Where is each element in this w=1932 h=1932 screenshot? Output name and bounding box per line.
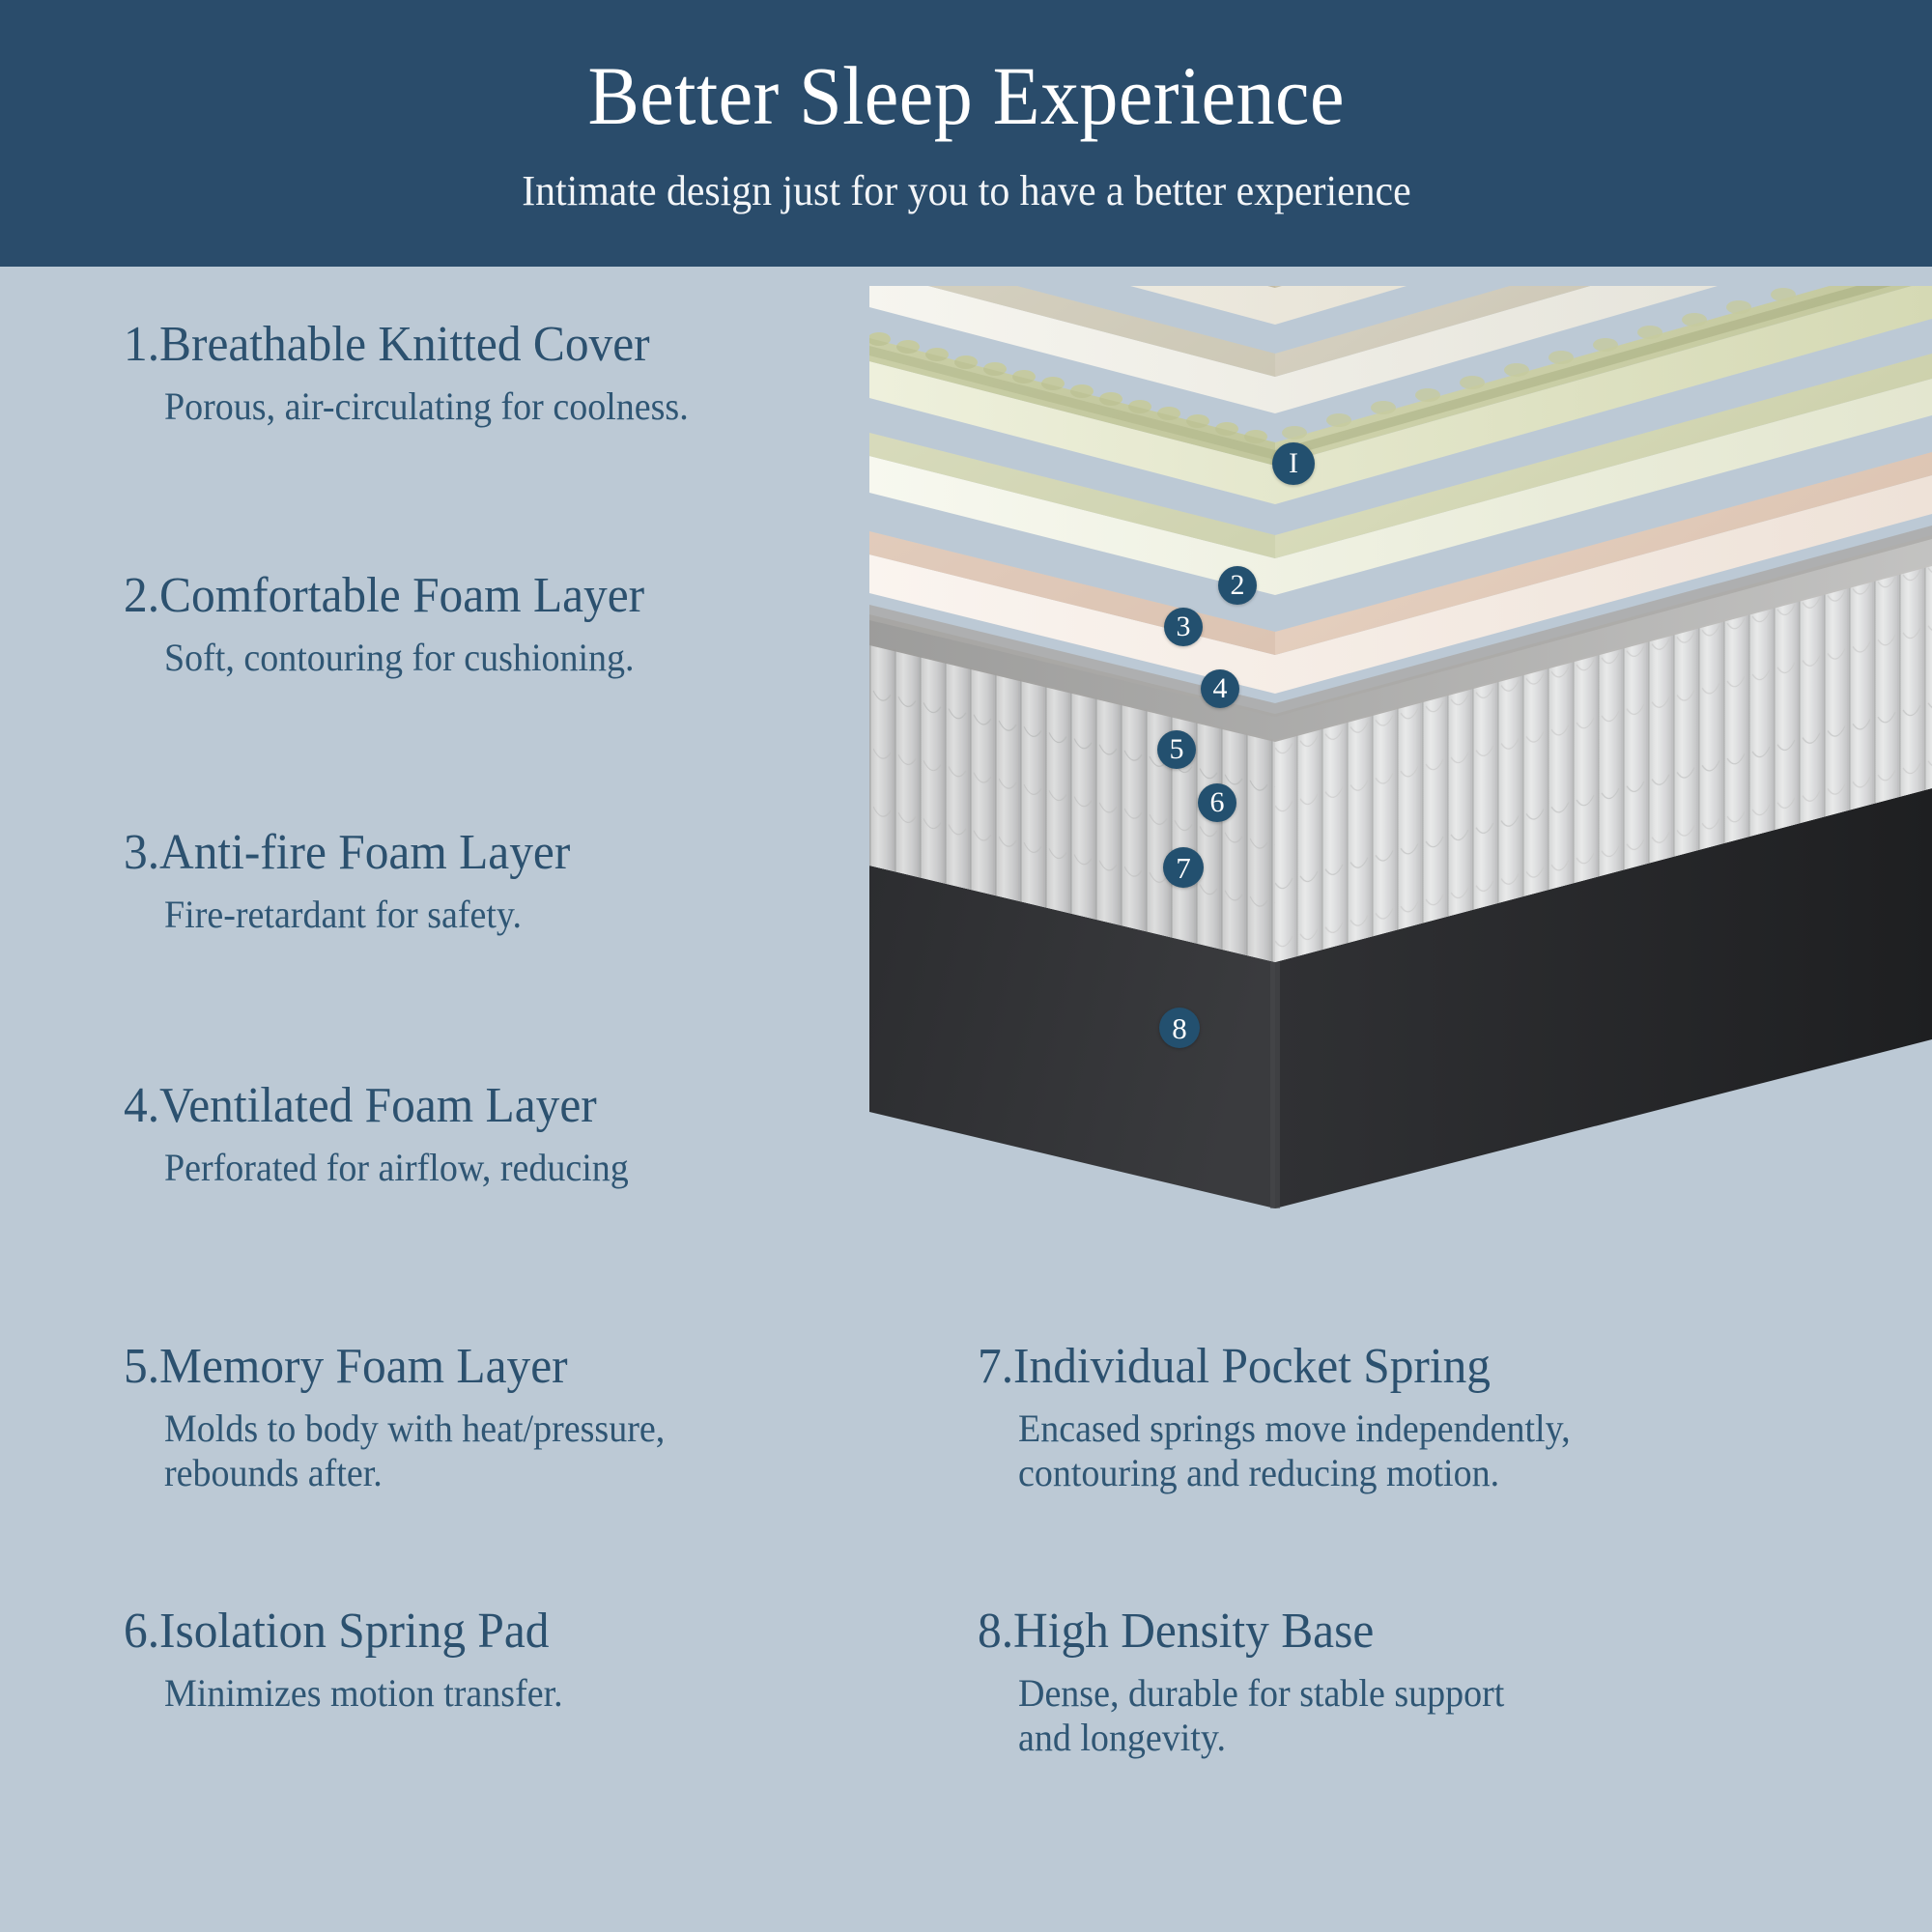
badge-layer-8-label: 8 xyxy=(1172,1013,1187,1043)
feature-7-desc-line-2: contouring and reducing motion. xyxy=(1018,1451,1571,1495)
mattress-cutaway-illustration xyxy=(869,286,1932,1320)
page-title: Better Sleep Experience xyxy=(587,54,1344,137)
feature-2-title: 2.Comfortable Foam Layer xyxy=(124,570,644,623)
feature-1-description: Porous, air-circulating for coolness. xyxy=(164,384,689,429)
page-subtitle: Intimate design just for you to have a b… xyxy=(522,170,1410,213)
feature-5-desc-line-2: rebounds after. xyxy=(164,1451,665,1495)
feature-4-description: Perforated for airflow, reducing xyxy=(164,1146,629,1190)
feature-7-title: 7.Individual Pocket Spring xyxy=(978,1341,1569,1394)
feature-item-7: 7.Individual Pocket Spring Encased sprin… xyxy=(978,1341,1600,1495)
badge-layer-3-label: 3 xyxy=(1177,612,1191,641)
feature-5-title: 5.Memory Foam Layer xyxy=(124,1341,663,1394)
feature-item-5: 5.Memory Foam Layer Molds to body with h… xyxy=(124,1341,692,1495)
feature-4-title: 4.Ventilated Foam Layer xyxy=(124,1080,627,1133)
content-stage: I 2 3 4 5 6 7 8 1.Breathable Knitted Cov… xyxy=(0,267,1932,1932)
feature-1-desc-line-1: Porous, air-circulating for coolness. xyxy=(164,384,689,429)
feature-3-title: 3.Anti-fire Foam Layer xyxy=(124,827,570,880)
feature-6-desc-line-1: Minimizes motion transfer. xyxy=(164,1671,563,1716)
feature-1-title: 1.Breathable Knitted Cover xyxy=(124,319,687,372)
feature-8-description: Dense, durable for stable support and lo… xyxy=(1018,1671,1504,1760)
feature-6-title: 6.Isolation Spring Pad xyxy=(124,1605,561,1659)
feature-2-desc-line-1: Soft, contouring for cushioning. xyxy=(164,636,646,680)
feature-3-desc-line-1: Fire-retardant for safety. xyxy=(164,893,572,937)
feature-8-desc-line-1: Dense, durable for stable support xyxy=(1018,1671,1504,1716)
badge-layer-4[interactable]: 4 xyxy=(1201,669,1239,708)
feature-5-description: Molds to body with heat/pressure, reboun… xyxy=(164,1406,665,1495)
feature-8-desc-line-2: and longevity. xyxy=(1018,1716,1504,1760)
feature-4-desc-line-1: Perforated for airflow, reducing xyxy=(164,1146,629,1190)
feature-2-description: Soft, contouring for cushioning. xyxy=(164,636,646,680)
badge-layer-6-label: 6 xyxy=(1210,788,1225,817)
badge-layer-8[interactable]: 8 xyxy=(1159,1008,1200,1048)
badge-layer-6[interactable]: 6 xyxy=(1198,783,1236,822)
badge-layer-7-label: 7 xyxy=(1176,853,1191,883)
badge-layer-5-label: 5 xyxy=(1170,735,1184,764)
page-header: Better Sleep Experience Intimate design … xyxy=(0,0,1932,267)
badge-layer-2-label: 2 xyxy=(1231,571,1245,600)
feature-item-8: 8.High Density Base Dense, durable for s… xyxy=(978,1605,1530,1760)
feature-item-6: 6.Isolation Spring Pad Minimizes motion … xyxy=(124,1605,583,1716)
badge-layer-1[interactable]: I xyxy=(1272,442,1315,485)
feature-5-desc-line-1: Molds to body with heat/pressure, xyxy=(164,1406,665,1451)
feature-6-description: Minimizes motion transfer. xyxy=(164,1671,563,1716)
badge-layer-4-label: 4 xyxy=(1213,674,1228,703)
badge-layer-7[interactable]: 7 xyxy=(1163,847,1204,888)
feature-3-description: Fire-retardant for safety. xyxy=(164,893,572,937)
feature-7-desc-line-1: Encased springs move independently, xyxy=(1018,1406,1571,1451)
badge-layer-5[interactable]: 5 xyxy=(1157,730,1196,769)
feature-item-1: 1.Breathable Knitted Cover Porous, air-c… xyxy=(124,319,716,429)
feature-item-4: 4.Ventilated Foam Layer Perforated for a… xyxy=(124,1080,653,1190)
badge-layer-2[interactable]: 2 xyxy=(1218,566,1257,605)
feature-item-2: 2.Comfortable Foam Layer Soft, contourin… xyxy=(124,570,672,680)
badge-layer-1-label: I xyxy=(1289,449,1298,478)
badge-layer-3[interactable]: 3 xyxy=(1164,608,1203,646)
feature-item-3: 3.Anti-fire Foam Layer Fire-retardant fo… xyxy=(124,827,594,937)
feature-8-title: 8.High Density Base xyxy=(978,1605,1502,1659)
feature-7-description: Encased springs move independently, cont… xyxy=(1018,1406,1571,1495)
